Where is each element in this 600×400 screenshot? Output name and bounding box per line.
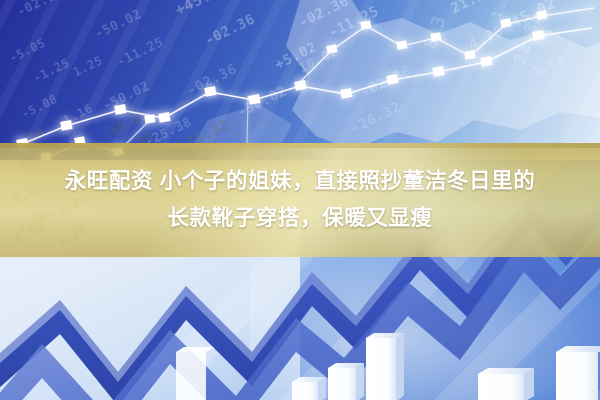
headline-line-1: 永旺配资 小个子的姐妹，直接照抄董洁冬日里的: [65, 163, 536, 200]
bar-2: [328, 363, 364, 400]
bar-1: [292, 377, 326, 400]
headline-block: 永旺配资 小个子的姐妹，直接照抄董洁冬日里的 长款靴子穿搭，保暖又显瘦: [0, 143, 600, 257]
bar-6: [176, 347, 214, 400]
headline-line-2: 长款靴子穿搭，保暖又显瘦: [167, 200, 432, 237]
article-banner-image: -02.36+45.02-02.3621.3645.02-50.02-02.36…: [0, 0, 600, 400]
bar-3: [366, 333, 404, 400]
bar-5: [556, 346, 600, 400]
bar-4: [478, 368, 534, 400]
